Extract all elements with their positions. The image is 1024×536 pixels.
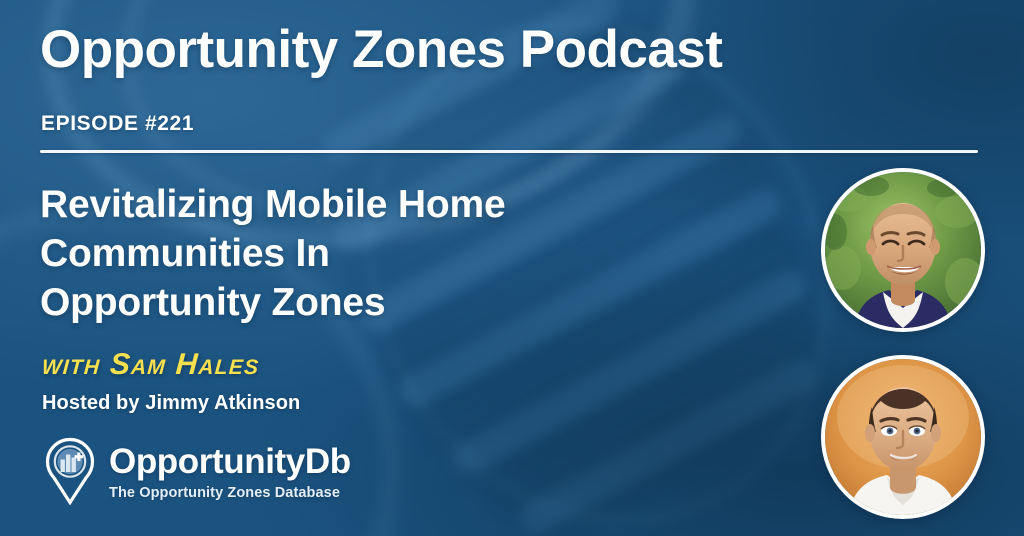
header-divider (40, 150, 978, 153)
map-pin-icon (40, 437, 100, 505)
episode-title: Revitalizing Mobile Home Communities In … (40, 180, 740, 327)
podcast-episode-cover: Opportunity Zones Podcast EPISODE #221 R… (0, 0, 1024, 536)
brand-text: OpportunityDb The Opportunity Zones Data… (109, 442, 351, 501)
host-headshot (821, 355, 985, 519)
guest-headshot (821, 168, 985, 332)
cover-content: Opportunity Zones Podcast EPISODE #221 R… (0, 0, 1024, 536)
opportunitydb-logo: OpportunityDb The Opportunity Zones Data… (40, 437, 351, 505)
episode-title-line: Revitalizing Mobile Home (40, 180, 740, 229)
episode-title-line: Communities In (40, 229, 740, 278)
brand-name: OpportunityDb (109, 444, 351, 479)
podcast-show-title: Opportunity Zones Podcast (40, 22, 1000, 78)
host-credit: Hosted by Jimmy Atkinson (42, 392, 300, 415)
guest-credit: with Sam Hales (41, 348, 261, 382)
brand-tagline: The Opportunity Zones Database (109, 486, 351, 501)
episode-number-label: EPISODE #221 (41, 112, 194, 136)
episode-title-line: Opportunity Zones (40, 278, 740, 327)
